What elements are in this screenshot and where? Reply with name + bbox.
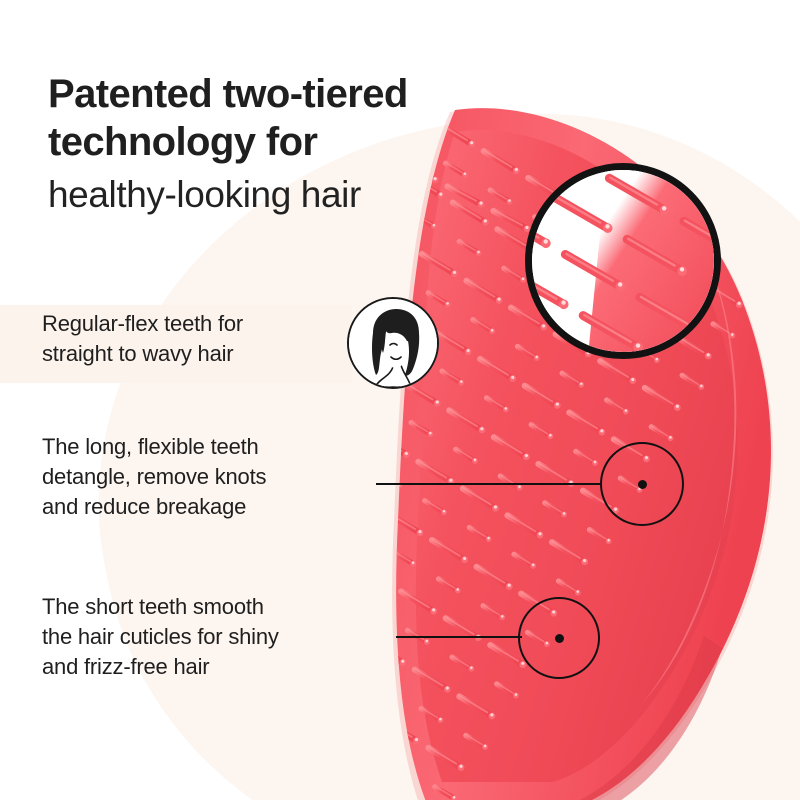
woman-hair-icon-art bbox=[349, 299, 437, 387]
callout-3-line-1: The short teeth smooth bbox=[42, 592, 392, 622]
callout-1-text: Regular-flex teeth for straight to wavy … bbox=[42, 309, 372, 369]
infographic-canvas: Patented two-tiered technology for healt… bbox=[0, 0, 800, 800]
headline-line-2: technology for bbox=[48, 118, 568, 166]
callout-2-line-3: and reduce breakage bbox=[42, 492, 382, 522]
callout-3-leader-line bbox=[396, 636, 522, 638]
callout-3-line-3: and frizz-free hair bbox=[42, 652, 392, 682]
callout-2-marker-dot bbox=[638, 480, 647, 489]
callout-2-leader-line bbox=[376, 483, 602, 485]
callout-1-line-2: straight to wavy hair bbox=[42, 339, 372, 369]
callout-1-line-1: Regular-flex teeth for bbox=[42, 309, 372, 339]
woman-hair-icon bbox=[347, 297, 439, 389]
callout-3-marker-dot bbox=[555, 634, 564, 643]
headline-line-1: Patented two-tiered bbox=[48, 70, 568, 118]
headline-block: Patented two-tiered technology for healt… bbox=[48, 70, 568, 220]
callout-3-text: The short teeth smooth the hair cuticles… bbox=[42, 592, 392, 682]
callout-2-line-2: detangle, remove knots bbox=[42, 462, 382, 492]
magnifier-content bbox=[525, 163, 721, 359]
bristle-magnifier-circle bbox=[525, 163, 721, 359]
headline-line-3: healthy-looking hair bbox=[48, 170, 568, 220]
callout-3-marker-circle bbox=[518, 597, 600, 679]
callout-3-line-2: the hair cuticles for shiny bbox=[42, 622, 392, 652]
callout-2-text: The long, flexible teeth detangle, remov… bbox=[42, 432, 382, 522]
callout-2-line-1: The long, flexible teeth bbox=[42, 432, 382, 462]
callout-2-marker-circle bbox=[600, 442, 684, 526]
